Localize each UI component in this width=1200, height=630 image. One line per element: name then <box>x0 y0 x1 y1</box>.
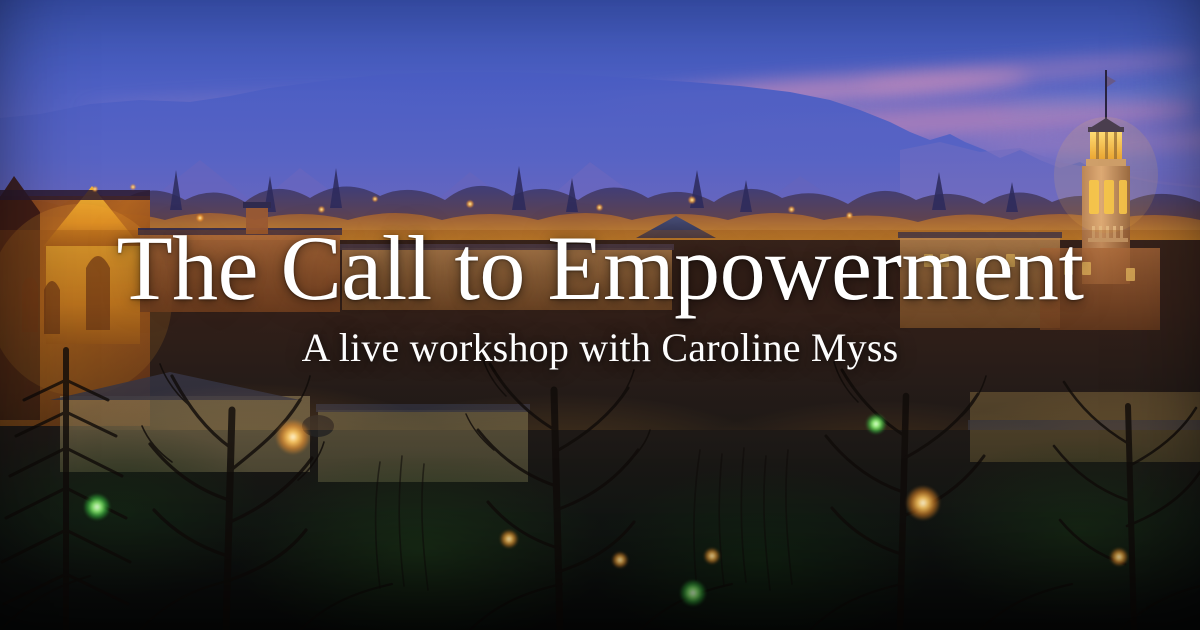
green-lamp <box>84 494 110 520</box>
street-lamp <box>276 420 310 454</box>
poster-canvas: The Call to Empowerment A live workshop … <box>0 0 1200 630</box>
street-lamp <box>500 530 518 548</box>
green-lamp <box>680 580 706 606</box>
distant-light <box>92 186 98 192</box>
street-lamp <box>1110 548 1128 566</box>
distant-light <box>372 196 378 202</box>
green-lamp <box>866 414 886 434</box>
distant-light <box>788 206 795 213</box>
distant-light <box>688 196 696 204</box>
poster-text-block: The Call to Empowerment A live workshop … <box>0 222 1200 370</box>
distant-light <box>596 204 603 211</box>
street-lamp <box>612 552 628 568</box>
distant-light <box>318 206 325 213</box>
page-title: The Call to Empowerment <box>0 222 1200 314</box>
distant-light <box>466 200 474 208</box>
street-lamp <box>906 486 940 520</box>
street-lamp <box>704 548 720 564</box>
distant-light <box>130 184 136 190</box>
page-subtitle: A live workshop with Caroline Myss <box>0 326 1200 370</box>
